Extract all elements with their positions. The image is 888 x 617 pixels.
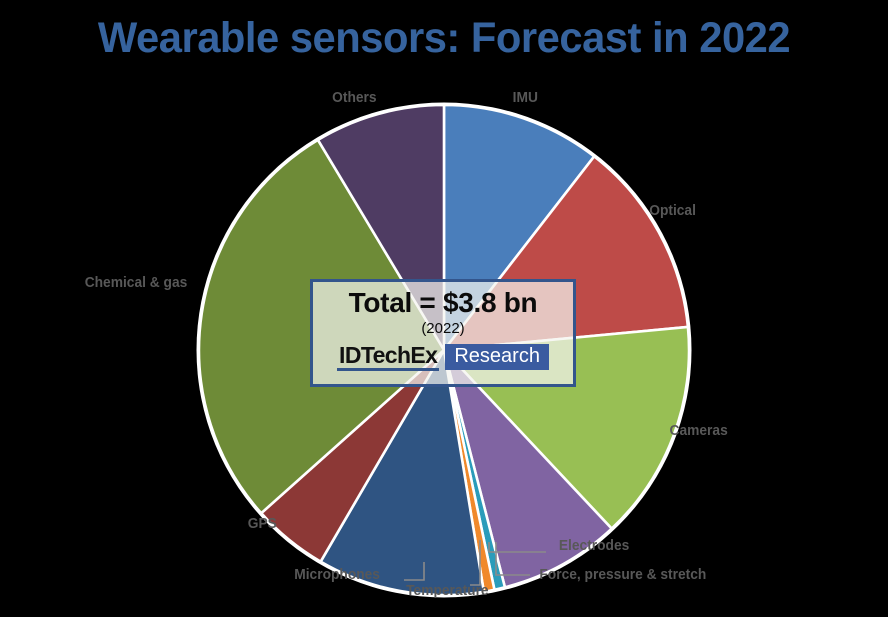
label-force: Force, pressure & stretch	[539, 567, 706, 583]
label-others: Others	[332, 90, 376, 106]
label-optical: Optical	[649, 203, 696, 219]
idtechex-logo: IDTechEx Research	[337, 343, 549, 371]
logo-research-badge: Research	[445, 344, 549, 370]
chart-canvas: Wearable sensors: Forecast in 2022 Other…	[0, 0, 888, 617]
total-value-text: Total = $3.8 bn	[349, 289, 538, 317]
label-imu: IMU	[513, 90, 538, 106]
label-electrodes: Electrodes	[559, 538, 629, 554]
label-microphones: Microphones	[294, 567, 380, 583]
label-gps: GPS	[248, 516, 277, 532]
label-temperature: Temperature	[406, 583, 488, 599]
total-year-text: (2022)	[421, 321, 464, 336]
logo-wordmark: IDTechEx	[337, 343, 439, 371]
label-chemical: Chemical & gas	[85, 275, 188, 291]
label-cameras: Cameras	[670, 423, 728, 439]
total-callout-box: Total = $3.8 bn (2022) IDTechEx Research	[310, 279, 576, 387]
